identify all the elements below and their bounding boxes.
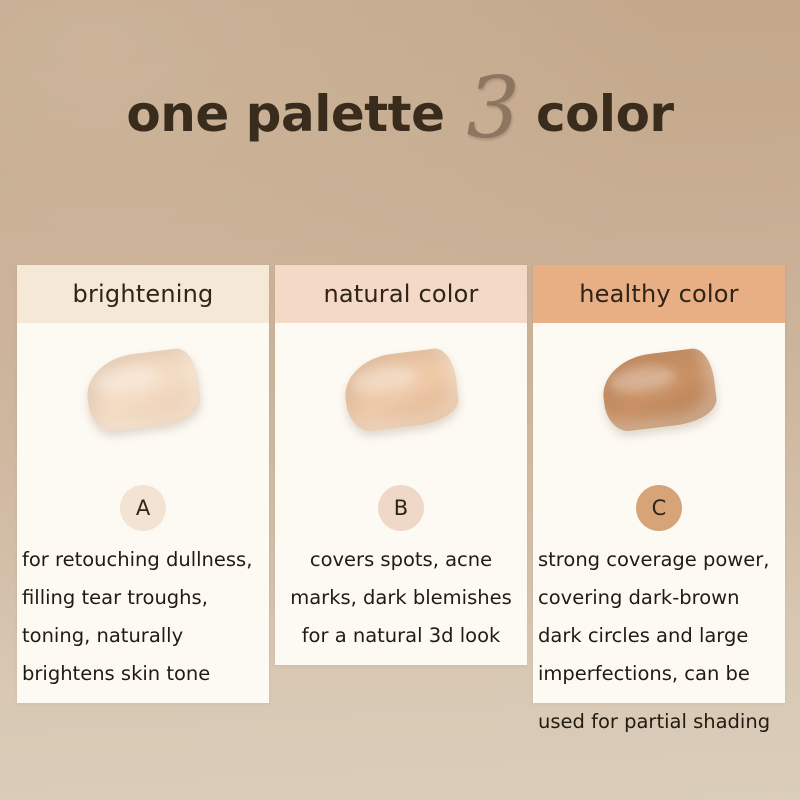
badge-area-a: A bbox=[17, 483, 269, 541]
description-line: toning, naturally bbox=[22, 617, 265, 655]
column-header-a: brightening bbox=[17, 265, 269, 323]
page-title: one palette 3 color bbox=[0, 60, 800, 170]
title-part-two: color bbox=[536, 89, 674, 139]
shade-badge-b: B bbox=[378, 485, 424, 531]
description-a: for retouching dullness, filling tear tr… bbox=[17, 541, 269, 703]
description-line: strong coverage power, bbox=[538, 541, 781, 579]
column-header-b: natural color bbox=[275, 265, 527, 323]
shade-card-b: natural color B covers spots, acne marks… bbox=[275, 265, 527, 665]
foundation-smear-b bbox=[341, 346, 461, 433]
shade-column-c: healthy color C strong coverage power, c… bbox=[533, 265, 785, 741]
title-number-three: 3 bbox=[466, 66, 519, 150]
swatch-area-b bbox=[275, 323, 527, 483]
shade-badge-a: A bbox=[120, 485, 166, 531]
description-line: brightens skin tone bbox=[22, 655, 265, 693]
shade-card-a: brightening A for retouching dullness, f… bbox=[17, 265, 269, 703]
column-header-c: healthy color bbox=[533, 265, 785, 323]
shade-columns: brightening A for retouching dullness, f… bbox=[17, 265, 785, 741]
foundation-smear-a bbox=[83, 346, 203, 433]
description-b: covers spots, acne marks, dark blemishes… bbox=[275, 541, 527, 665]
product-infographic: one palette 3 color brightening A for re… bbox=[0, 0, 800, 800]
description-line: for retouching dullness, bbox=[22, 541, 265, 579]
description-line: covers spots, acne bbox=[279, 541, 523, 579]
foundation-smear-c bbox=[599, 346, 719, 433]
swatch-area-c bbox=[533, 323, 785, 483]
description-line: covering dark-brown bbox=[538, 579, 781, 617]
description-overflow-line-c: used for partial shading bbox=[533, 703, 785, 741]
shade-card-c: healthy color C strong coverage power, c… bbox=[533, 265, 785, 703]
title-part-one: one palette bbox=[126, 89, 444, 139]
description-line: filling tear troughs, bbox=[22, 579, 265, 617]
description-c: strong coverage power, covering dark-bro… bbox=[533, 541, 785, 703]
shade-column-a: brightening A for retouching dullness, f… bbox=[17, 265, 269, 703]
shade-column-b: natural color B covers spots, acne marks… bbox=[275, 265, 527, 665]
description-line: imperfections, can be bbox=[538, 655, 781, 693]
shade-badge-c: C bbox=[636, 485, 682, 531]
description-line: for a natural 3d look bbox=[279, 617, 523, 655]
swatch-area-a bbox=[17, 323, 269, 483]
badge-area-c: C bbox=[533, 483, 785, 541]
badge-area-b: B bbox=[275, 483, 527, 541]
description-line: marks, dark blemishes bbox=[279, 579, 523, 617]
description-line: dark circles and large bbox=[538, 617, 781, 655]
